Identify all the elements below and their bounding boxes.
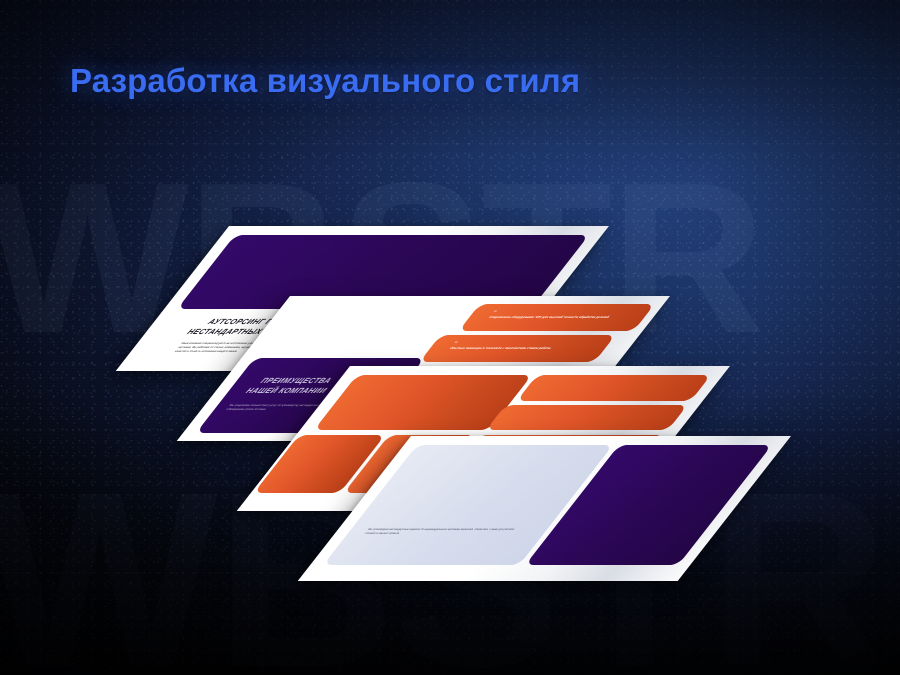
layer-3-card-2[interactable] bbox=[517, 375, 711, 401]
isometric-slide-deck: АУТСОРСИНГ ПРОИЗВОДСТВА НЕСТАНДАРТНЫХ ИЗ… bbox=[0, 0, 900, 675]
layer-2-heading-line-1: ПРЕИМУЩЕСТВА bbox=[258, 376, 334, 385]
layer-2-card-1[interactable]: 01 Современное оборудование ЧПУ для высо… bbox=[459, 304, 655, 331]
layer-2-card-1-caption: Современное оборудование ЧПУ для высокой… bbox=[488, 315, 631, 319]
layer-3-card-3[interactable] bbox=[486, 405, 688, 430]
layer-2-heading-line-2: НАШЕЙ КОМПАНИИ bbox=[244, 386, 330, 395]
layer-4-body: Мы производим нестандартные изделия по и… bbox=[363, 528, 520, 536]
layer-2-card-2-caption: Опытные инженеры и технологи с многолетн… bbox=[449, 346, 592, 350]
layer-2-card-1-label: 01 bbox=[493, 310, 498, 313]
slide-canvas: WBSTR WBSTR АУТСОРСИНГ ПРОИЗВОДСТВА НЕСТ… bbox=[0, 0, 900, 675]
layer-2-card-2-label: 02 bbox=[453, 341, 458, 344]
layer-2-card-2[interactable]: 02 Опытные инженеры и технологи с многол… bbox=[419, 335, 615, 362]
page-title: Разработка визуального стиля bbox=[70, 62, 580, 100]
